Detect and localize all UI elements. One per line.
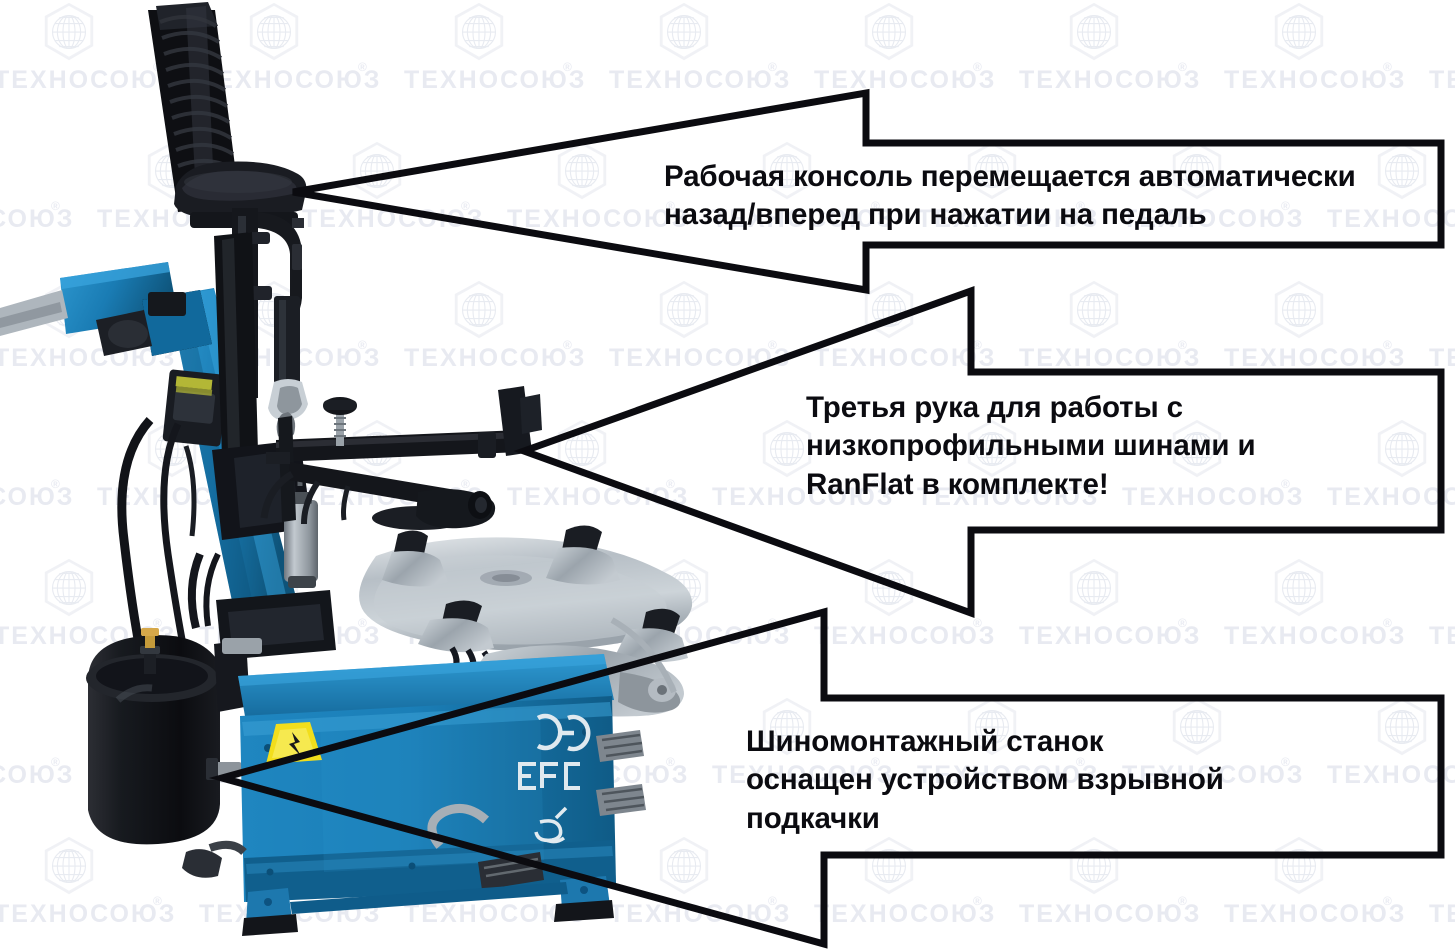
watermark-text: ТЕХНОСОЮЗ [1224,622,1406,651]
globe-in-hexagon-icon [1063,280,1125,342]
watermark-text: ТЕХНОСОЮЗ [1224,344,1406,373]
watermark-tile: ТЕХНОСОЮЗ ® [1230,834,1435,950]
callout-1-text: Рабочая консоль перемещается автоматичес… [664,158,1436,235]
watermark-registered-mark: ® [973,338,982,352]
watermark-registered-mark: ® [973,60,982,74]
watermark-globe-icon [1268,836,1330,898]
watermark-registered-mark: ® [1178,60,1187,74]
watermark-registered-mark: ® [973,894,982,908]
watermark-tile: ТЕХНОСОЮЗ ® [1435,834,1455,950]
globe-in-hexagon-icon [1063,558,1125,620]
watermark-globe-icon [1063,558,1125,620]
watermark-globe-icon [858,836,920,898]
watermark-registered-mark: ® [768,616,777,630]
watermark-text: ТЕХНОСОЮЗ [1224,900,1406,929]
globe-in-hexagon-icon [1268,836,1330,898]
watermark-text: ТЕХНОСОЮЗ [814,344,996,373]
infographic-canvas: ТЕХНОСОЮЗ ® ТЕХНОСОЮЗ ® [0,0,1455,950]
watermark-text: ТЕХНОСОЮЗ [1019,66,1201,95]
globe-in-hexagon-icon [858,280,920,342]
watermark-registered-mark: ® [768,60,777,74]
watermark-registered-mark: ® [1178,338,1187,352]
globe-in-hexagon-icon [1268,280,1330,342]
watermark-tile: ТЕХНОСОЮЗ ® [1025,0,1230,139]
callout-1-line-1: Рабочая консоль перемещается автоматичес… [664,158,1436,196]
watermark-text: ТЕХНОСОЮЗ [1429,66,1455,95]
watermark-text: ТЕХНОСОЮЗ [814,66,996,95]
globe-in-hexagon-icon [1268,2,1330,64]
tire-changer-photo [0,0,720,950]
callout-1-line-2: назад/вперед при нажатии на педаль [664,196,1436,234]
callout-3-text: Шиномонтажный станок оснащен устройством… [746,723,1436,838]
watermark-registered-mark: ® [1383,616,1392,630]
watermark-text: ТЕХНОСОЮЗ [1429,900,1455,929]
watermark-tile: ТЕХНОСОЮЗ ® [820,556,1025,695]
watermark-registered-mark: ® [1178,616,1187,630]
watermark-tile: ТЕХНОСОЮЗ ® [1230,0,1435,139]
globe-in-hexagon-icon [1063,2,1125,64]
watermark-tile: ТЕХНОСОЮЗ ® [820,834,1025,950]
watermark-text: ТЕХНОСОЮЗ [814,622,996,651]
globe-in-hexagon-icon [858,558,920,620]
watermark-globe-icon [1063,280,1125,342]
watermark-globe-icon [1268,280,1330,342]
blue-cabinet-body [238,654,616,902]
callout-2-line-2: низкопрофильными шинами и [806,427,1436,465]
callout-2-text: Третья рука для работы с низкопрофильным… [806,389,1436,504]
watermark-tile: ТЕХНОСОЮЗ ® [1230,556,1435,695]
watermark-globe-icon [858,2,920,64]
globe-in-hexagon-icon [1268,558,1330,620]
watermark-tile: ТЕХНОСОЮЗ ® [1435,278,1455,417]
watermark-tile: ТЕХНОСОЮЗ ® [1435,556,1455,695]
callout-2-line-1: Третья рука для работы с [806,389,1436,427]
watermark-registered-mark: ® [1178,894,1187,908]
watermark-tile: ТЕХНОСОЮЗ ® [1025,556,1230,695]
callout-3-line-3: подкачки [746,800,1436,838]
watermark-text: ТЕХНОСОЮЗ [1224,66,1406,95]
callout-3-line-2: оснащен устройством взрывной [746,761,1436,799]
watermark-tile: ТЕХНОСОЮЗ ® [820,0,1025,139]
watermark-text: ТЕХНОСОЮЗ [1429,622,1455,651]
watermark-globe-icon [858,280,920,342]
watermark-registered-mark: ® [768,894,777,908]
watermark-tile: ТЕХНОСОЮЗ ® [1025,834,1230,950]
watermark-registered-mark: ® [1383,894,1392,908]
watermark-text: ТЕХНОСОЮЗ [1019,344,1201,373]
watermark-text: ТЕХНОСОЮЗ [1019,900,1201,929]
watermark-text: ТЕХНОСОЮЗ [1019,622,1201,651]
watermark-registered-mark: ® [1383,338,1392,352]
watermark-tile: ТЕХНОСОЮЗ ® [1435,0,1455,139]
watermark-globe-icon [858,558,920,620]
watermark-registered-mark: ® [1383,60,1392,74]
watermark-registered-mark: ® [973,616,982,630]
globe-in-hexagon-icon [858,2,920,64]
watermark-text: ТЕХНОСОЮЗ [814,900,996,929]
globe-in-hexagon-icon [1063,836,1125,898]
callout-2-line-3: RanFlat в комплекте! [806,466,1436,504]
callout-3-line-1: Шиномонтажный станок [746,723,1436,761]
globe-in-hexagon-icon [858,836,920,898]
watermark-globe-icon [1063,836,1125,898]
watermark-registered-mark: ® [768,338,777,352]
watermark-globe-icon [1268,558,1330,620]
watermark-globe-icon [1063,2,1125,64]
watermark-globe-icon [1268,2,1330,64]
watermark-text: ТЕХНОСОЮЗ [1429,344,1455,373]
